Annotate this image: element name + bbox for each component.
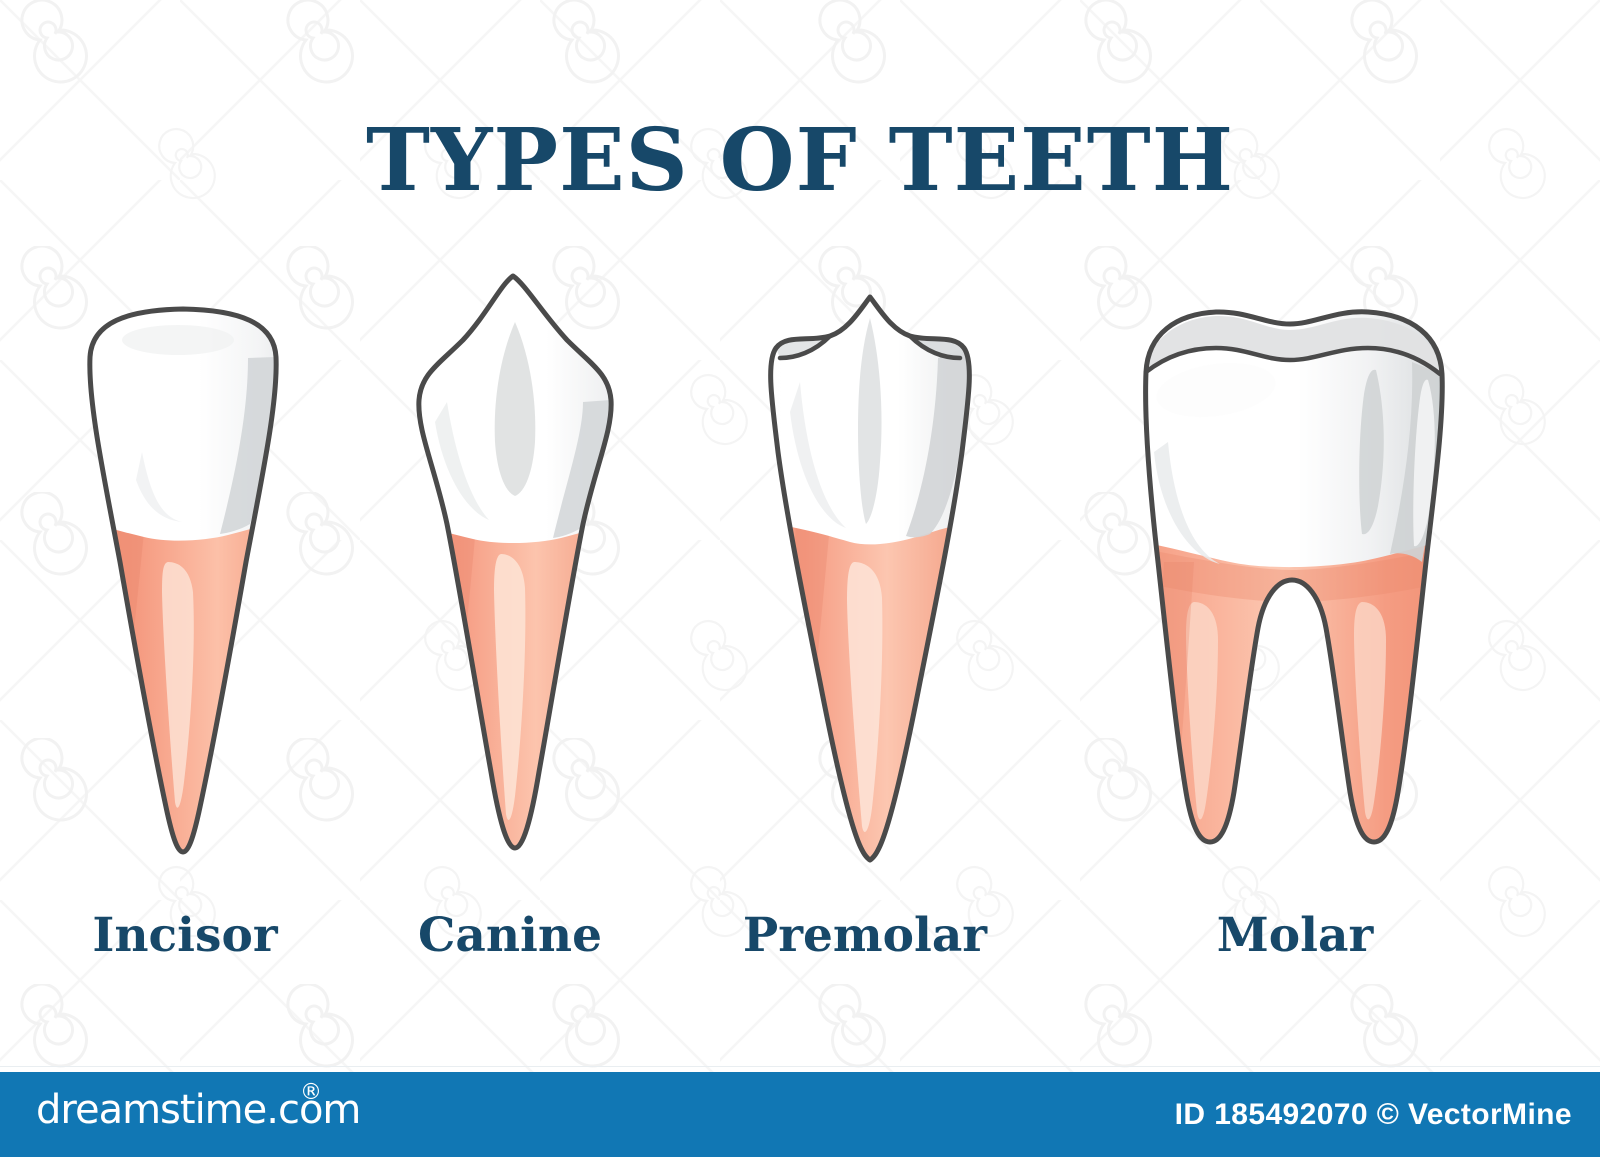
tooth-figure-molar <box>1090 262 1490 882</box>
incisor-root-fill <box>50 492 320 882</box>
registered-trademark-icon: ® <box>300 1080 326 1106</box>
canine-crown-fill <box>385 262 645 543</box>
image-credit-text: ID 185492070 © VectorMine <box>1175 1098 1572 1132</box>
tooth-figure-incisor <box>50 262 320 882</box>
illustration-canvas: TYPES OF TEETH <box>0 0 1600 1157</box>
teeth-row <box>0 262 1600 882</box>
premolar-root-fill <box>730 502 1010 882</box>
tooth-label-premolar: Premolar <box>725 905 1005 966</box>
tooth-label-incisor: Incisor <box>50 905 320 966</box>
page-title: TYPES OF TEETH <box>0 118 1600 204</box>
tooth-label-molar: Molar <box>1095 905 1495 966</box>
canine-root-fill <box>385 492 645 882</box>
tooth-figure-canine <box>385 262 645 882</box>
molar-root-fill <box>1090 512 1490 882</box>
stock-footer-bar: dreamstime.com ® ID 185492070 © VectorMi… <box>0 1072 1600 1157</box>
footer-divider <box>0 1066 1600 1067</box>
tooth-label-canine: Canine <box>380 905 640 966</box>
tooth-figure-premolar <box>730 262 1010 882</box>
tooth-labels: Incisor Canine Premolar Molar <box>0 905 1600 985</box>
